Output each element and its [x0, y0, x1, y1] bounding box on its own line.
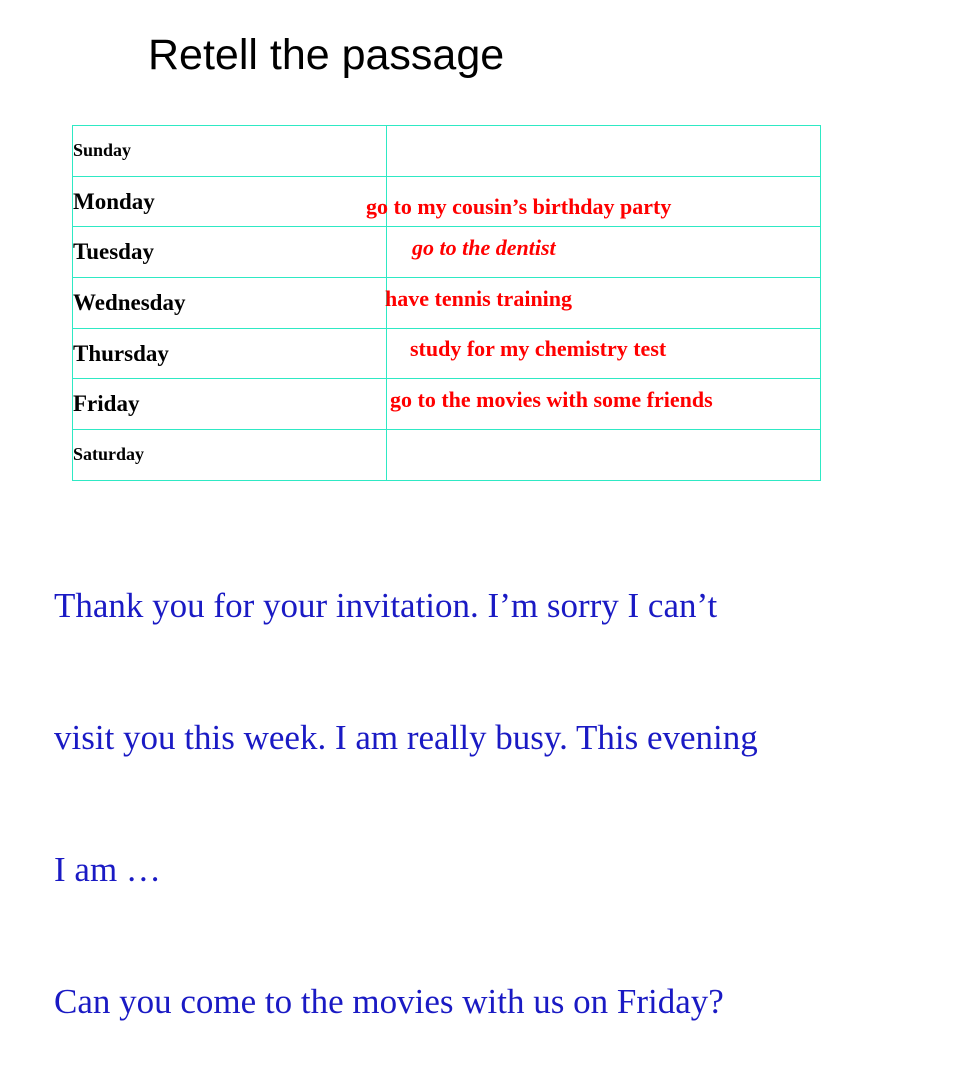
activity-cell-sunday: [387, 126, 821, 177]
day-label-monday: Monday: [73, 176, 387, 227]
table-row: Friday: [73, 379, 821, 430]
activity-cell-tuesday: [387, 227, 821, 278]
weekly-schedule-table: Sunday Monday Tuesday Wednesday Thursday…: [72, 125, 821, 481]
activity-cell-wednesday: [387, 278, 821, 329]
closing-line-4: Can you come to the movies with us on Fr…: [54, 980, 944, 1024]
page-title: Retell the passage: [148, 33, 504, 78]
table-row: Tuesday: [73, 227, 821, 278]
day-label-thursday: Thursday: [73, 328, 387, 379]
day-label-sunday: Sunday: [73, 126, 387, 177]
table-row: Sunday: [73, 126, 821, 177]
closing-paragraph: Thank you for your invitation. I’m sorry…: [54, 496, 944, 1068]
day-label-saturday: Saturday: [73, 430, 387, 481]
closing-line-2: visit you this week. I am really busy. T…: [54, 716, 944, 760]
closing-line-1: Thank you for your invitation. I’m sorry…: [54, 584, 944, 628]
day-label-tuesday: Tuesday: [73, 227, 387, 278]
day-label-friday: Friday: [73, 379, 387, 430]
day-label-wednesday: Wednesday: [73, 278, 387, 329]
activity-cell-monday: [387, 176, 821, 227]
table-row: Thursday: [73, 328, 821, 379]
activity-cell-saturday: [387, 430, 821, 481]
closing-line-3: I am …: [54, 848, 944, 892]
activity-cell-friday: [387, 379, 821, 430]
activity-cell-thursday: [387, 328, 821, 379]
table-row: Saturday: [73, 430, 821, 481]
table-row: Wednesday: [73, 278, 821, 329]
table-row: Monday: [73, 176, 821, 227]
